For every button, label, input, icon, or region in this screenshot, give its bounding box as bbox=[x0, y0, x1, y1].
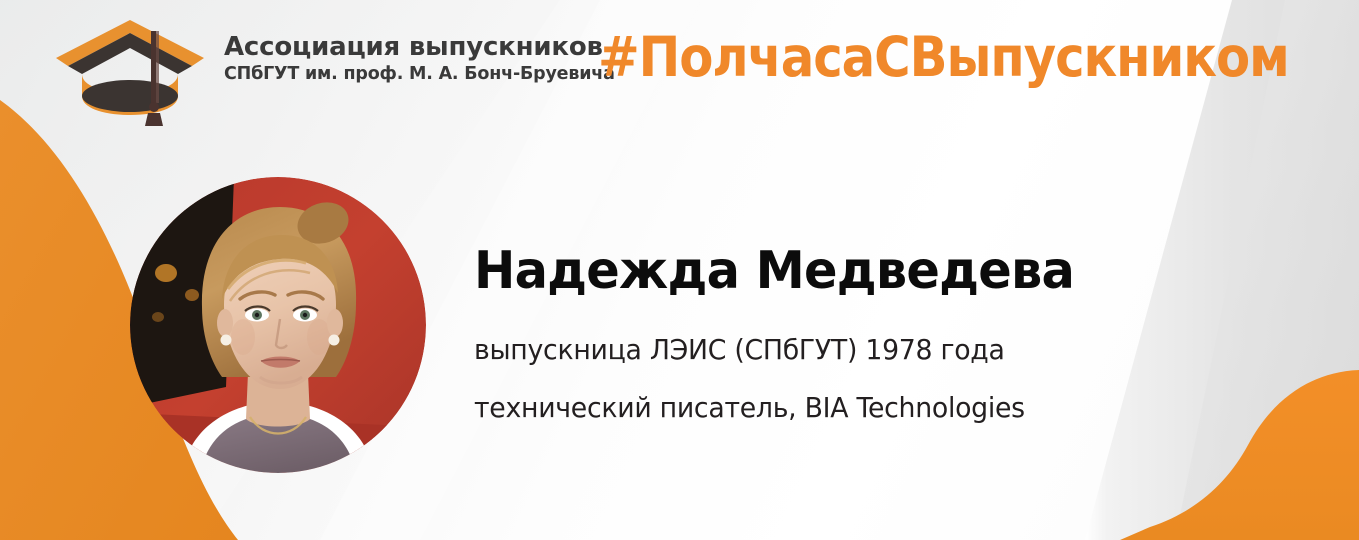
logo-text-block: Ассоциация выпускников СПбГУТ им. проф. … bbox=[224, 14, 615, 84]
person-detail-lines: выпускница ЛЭИС (СПбГУТ) 1978 года техни… bbox=[474, 321, 1174, 437]
logo-title: Ассоциация выпускников bbox=[224, 34, 615, 62]
person-info: Надежда Медведева выпускница ЛЭИС (СПбГУ… bbox=[474, 243, 1174, 437]
person-detail-line: выпускница ЛЭИС (СПбГУТ) 1978 года bbox=[474, 321, 1143, 379]
person-detail-line: технический писатель, BIA Technologies bbox=[474, 379, 1143, 437]
hashtag-title: #ПолчасаСВыпускником bbox=[598, 26, 1289, 88]
logo-subtitle: СПбГУТ им. проф. М. А. Бонч-Бруевича bbox=[224, 64, 615, 84]
page-title: Надежда Медведева bbox=[474, 243, 1139, 299]
portrait-photo bbox=[130, 177, 426, 473]
avatar bbox=[130, 177, 426, 473]
graduation-cap-icon bbox=[52, 14, 212, 126]
promo-banner: Ассоциация выпускников СПбГУТ им. проф. … bbox=[0, 0, 1359, 540]
association-logo: Ассоциация выпускников СПбГУТ им. проф. … bbox=[52, 14, 615, 126]
